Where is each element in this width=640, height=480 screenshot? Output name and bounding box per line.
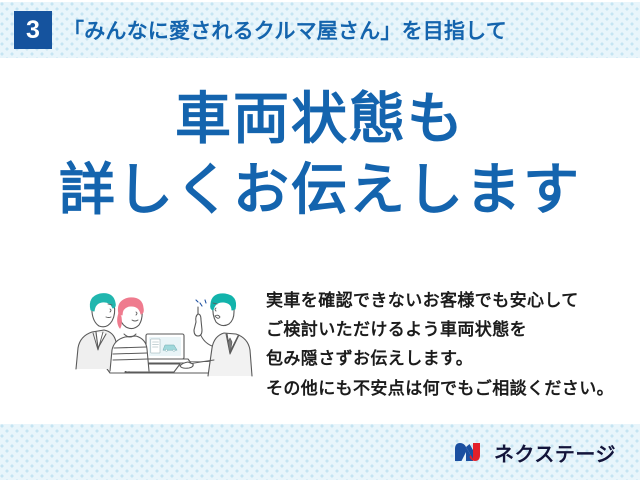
header-band: 3 「みんなに愛されるクルマ屋さん」を目指して: [0, 2, 640, 58]
body-copy-line-2: ご検討いただけるよう車両状態を: [266, 315, 618, 344]
header-title: 「みんなに愛されるクルマ屋さん」を目指して: [63, 15, 507, 45]
headline-line-2: 詳しくお伝えします: [0, 159, 640, 222]
body-copy-line-1: 実車を確認できないお客様でも安心して: [266, 286, 618, 315]
body-copy-line-3: 包み隠さずお伝えします。: [266, 344, 618, 373]
headline-line-1: 車両状態も: [0, 88, 640, 151]
headline: 車両状態も 詳しくお伝えします: [0, 88, 640, 221]
consultation-illustration: [62, 276, 260, 388]
nextage-logo-text: ネクステージ: [494, 438, 616, 467]
advertisement-banner: 3 「みんなに愛されるクルマ屋さん」を目指して 車両状態も 詳しくお伝えします: [0, 0, 640, 480]
body-copy-line-4: その他にも不安点は何でもご相談ください。: [266, 374, 618, 403]
nextage-n-mark-icon: [453, 440, 487, 464]
footer-band: ネクステージ: [0, 424, 640, 480]
nextage-logo: ネクステージ: [453, 438, 616, 467]
section-number-badge: 3: [14, 11, 52, 49]
body-copy: 実車を確認できないお客様でも安心して ご検討いただけるよう車両状態を 包み隠さず…: [266, 286, 618, 403]
